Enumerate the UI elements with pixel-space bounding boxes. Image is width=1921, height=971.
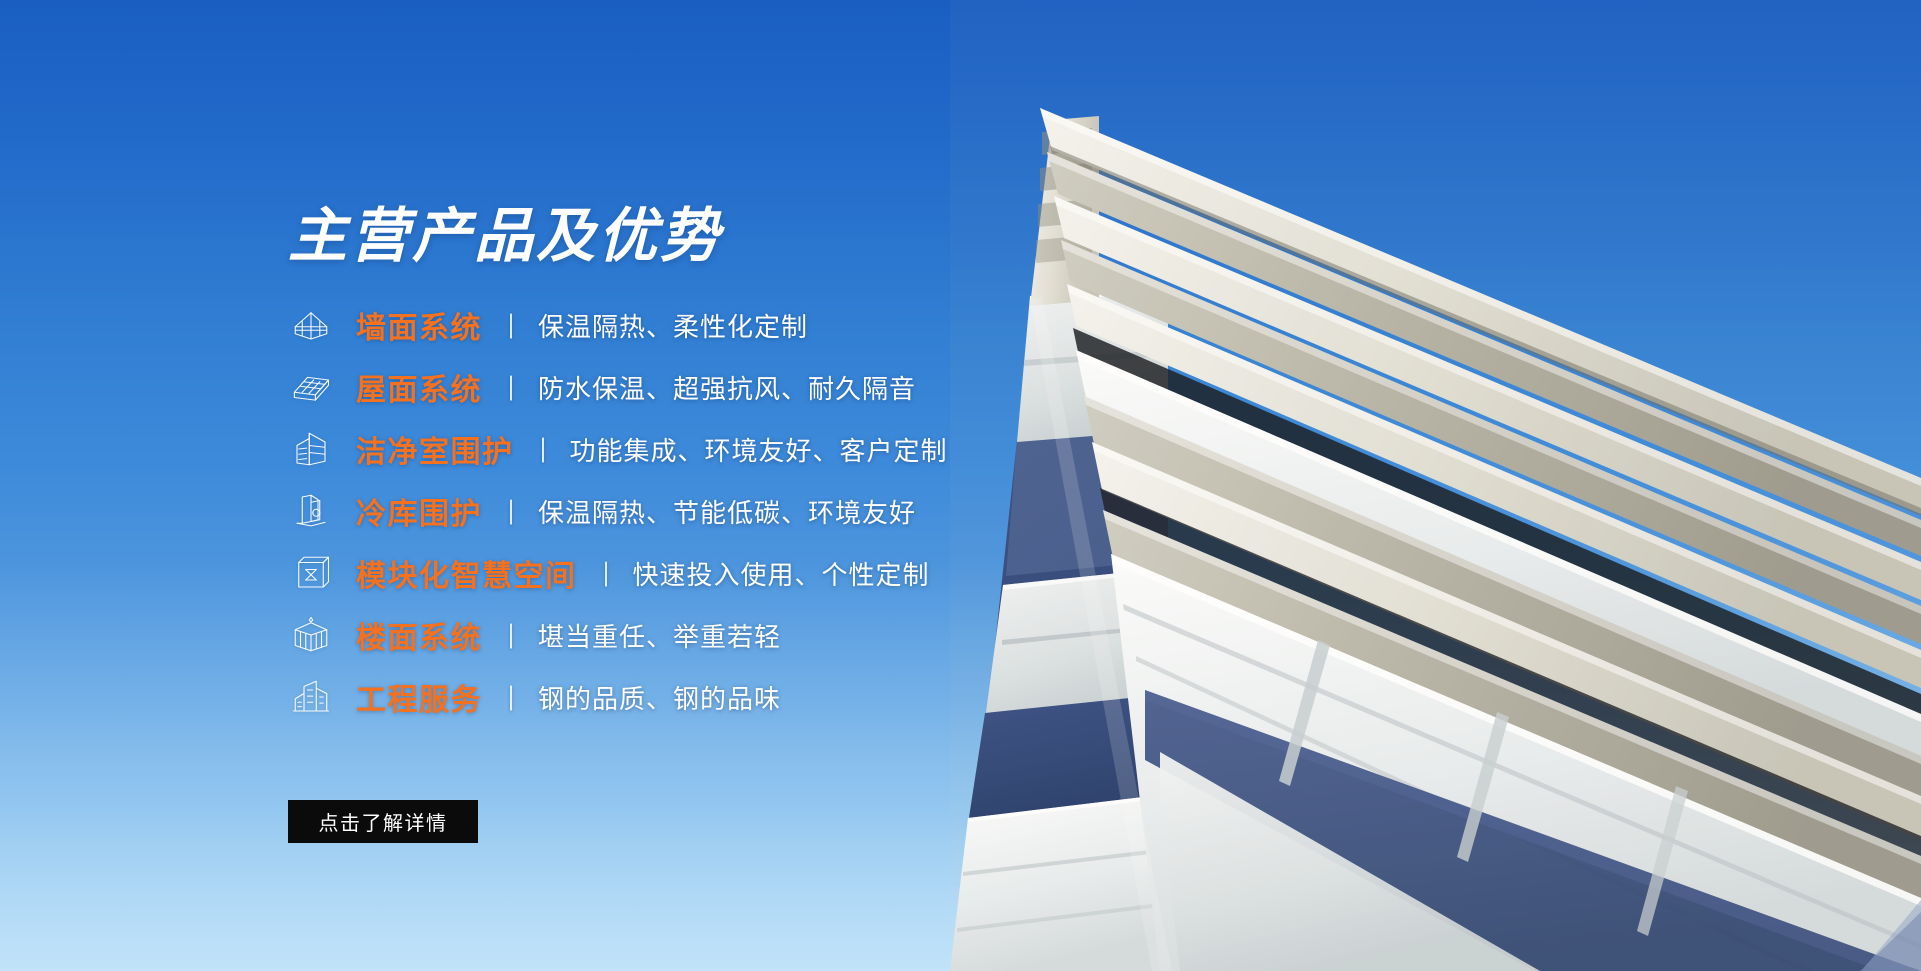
product-separator: 丨 xyxy=(504,679,518,716)
product-description: 防水保温、超强抗风、耐久隔音 xyxy=(538,369,916,406)
hero-banner: 主营产品及优势 墙面系统 丨 保温隔热、柔性化定制 xyxy=(0,0,1921,971)
product-name: 墙面系统 xyxy=(356,303,482,347)
floor-deck-system-icon xyxy=(288,612,334,658)
product-description: 堪当重任、举重若轻 xyxy=(538,617,781,654)
product-row-modular-smart-space[interactable]: 模块化智慧空间 丨 快速投入使用、个性定制 xyxy=(288,544,1008,602)
product-separator: 丨 xyxy=(504,307,518,344)
product-description: 保温隔热、柔性化定制 xyxy=(538,307,808,344)
product-row-roof-system[interactable]: 屋面系统 丨 防水保温、超强抗风、耐久隔音 xyxy=(288,358,1008,416)
product-row-cold-storage-enclosure[interactable]: 冷库围护 丨 保温隔热、节能低碳、环境友好 xyxy=(288,482,1008,540)
product-name: 工程服务 xyxy=(356,675,482,719)
product-row-cleanroom-enclosure[interactable]: 洁净室围护 丨 功能集成、环境友好、客户定制 xyxy=(288,420,1008,478)
learn-more-button[interactable]: 点击了解详情 xyxy=(288,800,478,843)
product-name: 洁净室围护 xyxy=(356,427,514,471)
product-row-wall-system[interactable]: 墙面系统 丨 保温隔热、柔性化定制 xyxy=(288,296,1008,354)
product-name: 模块化智慧空间 xyxy=(356,551,577,595)
wall-panel-system-icon xyxy=(288,302,334,348)
product-row-engineering-service[interactable]: 工程服务 丨 钢的品质、钢的品味 xyxy=(288,668,1008,726)
product-row-floor-system[interactable]: 楼面系统 丨 堪当重任、举重若轻 xyxy=(288,606,1008,664)
product-description: 快速投入使用、个性定制 xyxy=(633,555,930,592)
banner-content: 主营产品及优势 墙面系统 丨 保温隔热、柔性化定制 xyxy=(0,0,1000,971)
engineering-service-icon xyxy=(288,674,334,720)
cleanroom-enclosure-icon xyxy=(288,426,334,472)
product-separator: 丨 xyxy=(504,617,518,654)
product-name: 屋面系统 xyxy=(356,365,482,409)
product-description: 钢的品质、钢的品味 xyxy=(538,679,781,716)
product-description: 功能集成、环境友好、客户定制 xyxy=(570,431,948,468)
roof-panel-system-icon xyxy=(288,364,334,410)
product-name: 楼面系统 xyxy=(356,613,482,657)
product-name: 冷库围护 xyxy=(356,489,482,533)
product-separator: 丨 xyxy=(504,493,518,530)
page-title: 主营产品及优势 xyxy=(288,205,722,267)
product-description: 保温隔热、节能低碳、环境友好 xyxy=(538,493,916,530)
product-separator: 丨 xyxy=(535,431,549,468)
product-separator: 丨 xyxy=(598,555,612,592)
modular-smart-space-icon xyxy=(288,550,334,596)
product-separator: 丨 xyxy=(504,369,518,406)
cold-storage-enclosure-icon xyxy=(288,488,334,534)
product-list: 墙面系统 丨 保温隔热、柔性化定制 屋面系统 xyxy=(288,296,1008,730)
